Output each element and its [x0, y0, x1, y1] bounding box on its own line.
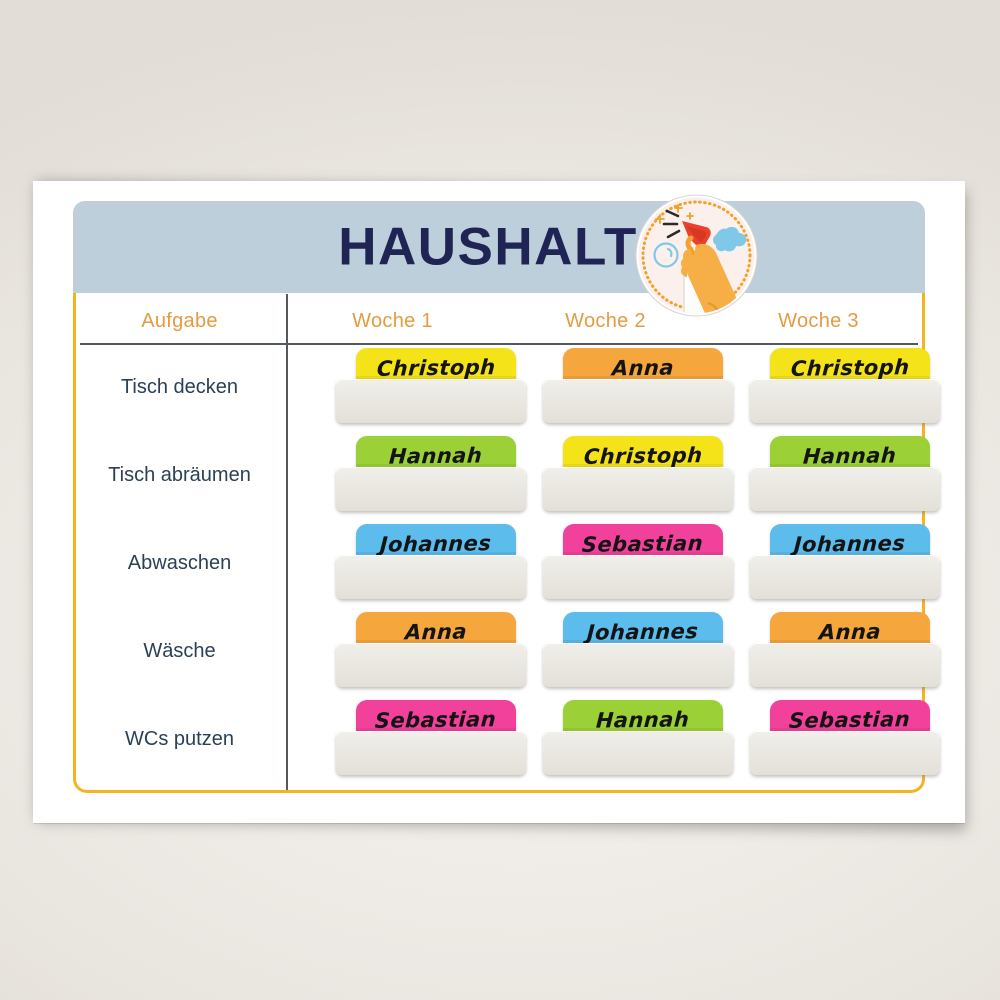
spray-bottle-icon: [634, 193, 759, 318]
assignee-name: Johannes: [794, 531, 907, 557]
tab-base-card[interactable]: [336, 467, 526, 511]
assignee-name: Anna: [611, 355, 674, 380]
tab-base-card[interactable]: [336, 731, 526, 775]
table-row: Tisch deckenChristophAnnaChristoph: [73, 345, 925, 429]
task-label: Wäsche: [73, 609, 286, 693]
tab-base-card[interactable]: [543, 379, 733, 423]
tab-base-card[interactable]: [336, 379, 526, 423]
assignment-tab[interactable]: Anna: [543, 345, 733, 429]
task-label: Abwaschen: [73, 521, 286, 605]
assignment-tab[interactable]: Johannes: [336, 521, 526, 605]
column-header-task: Aufgabe: [73, 299, 286, 343]
assignment-tab[interactable]: Hannah: [336, 433, 526, 517]
tab-base-card[interactable]: [543, 643, 733, 687]
assignment-tab[interactable]: Hannah: [543, 697, 733, 781]
assignee-name: Christoph: [583, 443, 703, 469]
assignee-name: Christoph: [790, 355, 910, 381]
table-row: WCs putzenSebastianHannahSebastian: [73, 697, 925, 781]
tab-base-card[interactable]: [750, 467, 940, 511]
assignment-tab[interactable]: Anna: [750, 609, 940, 693]
table-row: AbwaschenJohannesSebastianJohannes: [73, 521, 925, 605]
task-label: WCs putzen: [73, 697, 286, 781]
page-title: HAUSHALT: [73, 217, 925, 278]
tab-base-card[interactable]: [750, 731, 940, 775]
assignment-tab[interactable]: Johannes: [750, 521, 940, 605]
assignee-name: Hannah: [803, 443, 898, 468]
assignment-tab[interactable]: Christoph: [750, 345, 940, 429]
tab-base-card[interactable]: [336, 643, 526, 687]
task-label: Tisch decken: [73, 345, 286, 429]
column-header-week-1: Woche 1: [286, 299, 499, 343]
assignee-name: Sebastian: [789, 707, 911, 733]
tab-base-card[interactable]: [750, 555, 940, 599]
assignment-tab[interactable]: Anna: [336, 609, 526, 693]
tab-base-card[interactable]: [750, 379, 940, 423]
board-header-banner: HAUSHALT: [73, 201, 925, 293]
assignee-name: Johannes: [380, 531, 493, 557]
assignment-tab[interactable]: Christoph: [543, 433, 733, 517]
chore-board-card: HAUSHALT: [33, 181, 965, 823]
assignee-name: Johannes: [587, 619, 700, 645]
assignee-name: Sebastian: [375, 707, 497, 733]
assignment-tab[interactable]: Sebastian: [750, 697, 940, 781]
assignee-name: Sebastian: [582, 531, 704, 557]
assignee-name: Hannah: [596, 707, 691, 732]
tab-base-card[interactable]: [543, 467, 733, 511]
assignee-name: Christoph: [376, 355, 496, 381]
table-column-headers: Aufgabe Woche 1 Woche 2 Woche 3: [73, 299, 925, 343]
tab-base-card[interactable]: [543, 555, 733, 599]
assignment-tab[interactable]: Christoph: [336, 345, 526, 429]
assignment-tab[interactable]: Hannah: [750, 433, 940, 517]
assignee-name: Hannah: [389, 443, 484, 468]
assignee-name: Anna: [404, 619, 467, 644]
table-body: Tisch deckenChristophAnnaChristophTisch …: [73, 345, 925, 792]
assignment-tab[interactable]: Sebastian: [336, 697, 526, 781]
table-row: Tisch abräumenHannahChristophHannah: [73, 433, 925, 517]
task-label: Tisch abräumen: [73, 433, 286, 517]
tab-base-card[interactable]: [336, 555, 526, 599]
assignment-tab[interactable]: Johannes: [543, 609, 733, 693]
board-stage: HAUSHALT: [0, 0, 1000, 1000]
table-row: WäscheAnnaJohannesAnna: [73, 609, 925, 693]
assignment-tab[interactable]: Sebastian: [543, 521, 733, 605]
tab-base-card[interactable]: [543, 731, 733, 775]
tab-base-card[interactable]: [750, 643, 940, 687]
assignee-name: Anna: [818, 619, 881, 644]
